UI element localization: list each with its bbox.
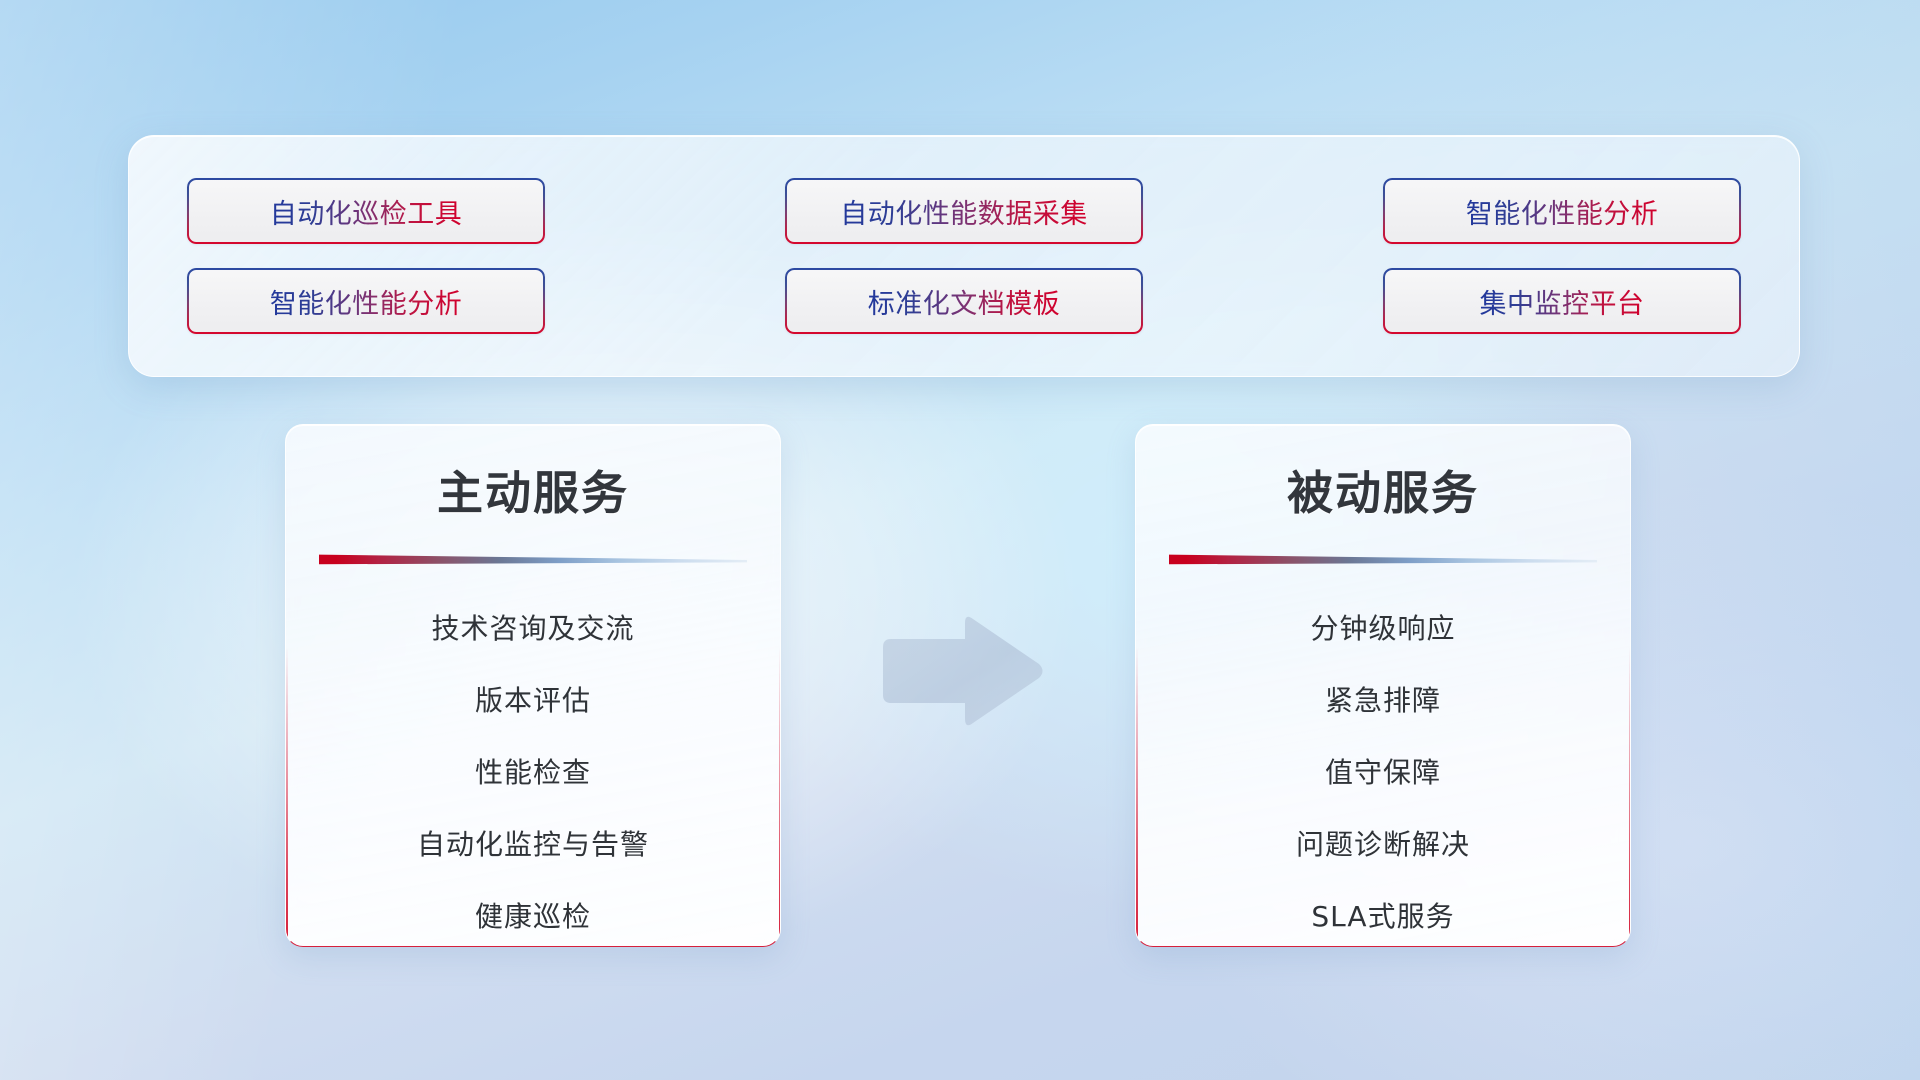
service-item: 技术咨询及交流	[286, 593, 780, 665]
service-item: 版本评估	[286, 665, 780, 737]
capability-tag-automated-inspection-tool[interactable]: 自动化巡检工具	[187, 178, 545, 244]
capability-tag-intelligent-performance-analysis[interactable]: 智能化性能分析	[1383, 178, 1741, 244]
service-item: 性能检查	[286, 737, 780, 809]
service-item: 值守保障	[1136, 737, 1630, 809]
capability-tag-label: 自动化巡检工具	[270, 192, 463, 231]
service-card-passive[interactable]: 被动服务 分钟级响应 紧急排障 值守保障 问题诊断解决 SLA式服务	[1135, 424, 1631, 947]
capability-tag-label: 自动化性能数据采集	[840, 192, 1088, 231]
capability-tag-central-monitoring-platform[interactable]: 集中监控平台	[1383, 268, 1741, 334]
capability-tag-label: 智能化性能分析	[270, 282, 463, 321]
arrow-right-icon	[873, 611, 1046, 731]
capability-tag-label: 集中监控平台	[1480, 282, 1645, 321]
title-divider	[319, 553, 747, 565]
service-card-active[interactable]: 主动服务 技术咨询及交流 版本评估 性能检查 自动化监控与告警 健康巡检	[285, 424, 781, 947]
capability-panel: 自动化巡检工具 自动化性能数据采集 智能化性能分析 智能化性能分析 标准化文档模…	[128, 135, 1800, 377]
capability-tag-label: 标准化文档模板	[868, 282, 1061, 321]
service-item: 分钟级响应	[1136, 593, 1630, 665]
service-item: 问题诊断解决	[1136, 809, 1630, 881]
capability-row-2: 智能化性能分析 标准化文档模板 集中监控平台	[187, 268, 1741, 334]
service-item-list: 分钟级响应 紧急排障 值守保障 问题诊断解决 SLA式服务	[1136, 593, 1630, 947]
capability-tag-label: 智能化性能分析	[1466, 192, 1659, 231]
capability-row-1: 自动化巡检工具 自动化性能数据采集 智能化性能分析	[187, 178, 1741, 244]
card-title: 主动服务	[286, 457, 780, 523]
card-title: 被动服务	[1136, 457, 1630, 523]
title-divider	[1169, 553, 1597, 565]
capability-tag-automated-performance-collection[interactable]: 自动化性能数据采集	[785, 178, 1143, 244]
service-item: 健康巡检	[286, 881, 780, 947]
capability-tag-standard-doc-template[interactable]: 标准化文档模板	[785, 268, 1143, 334]
service-item-list: 技术咨询及交流 版本评估 性能检查 自动化监控与告警 健康巡检	[286, 593, 780, 947]
service-item: 自动化监控与告警	[286, 809, 780, 881]
capability-tag-intelligent-performance-analysis-2[interactable]: 智能化性能分析	[187, 268, 545, 334]
service-item: 紧急排障	[1136, 665, 1630, 737]
service-item: SLA式服务	[1136, 881, 1630, 947]
slide-canvas: 自动化巡检工具 自动化性能数据采集 智能化性能分析 智能化性能分析 标准化文档模…	[0, 0, 1920, 1080]
